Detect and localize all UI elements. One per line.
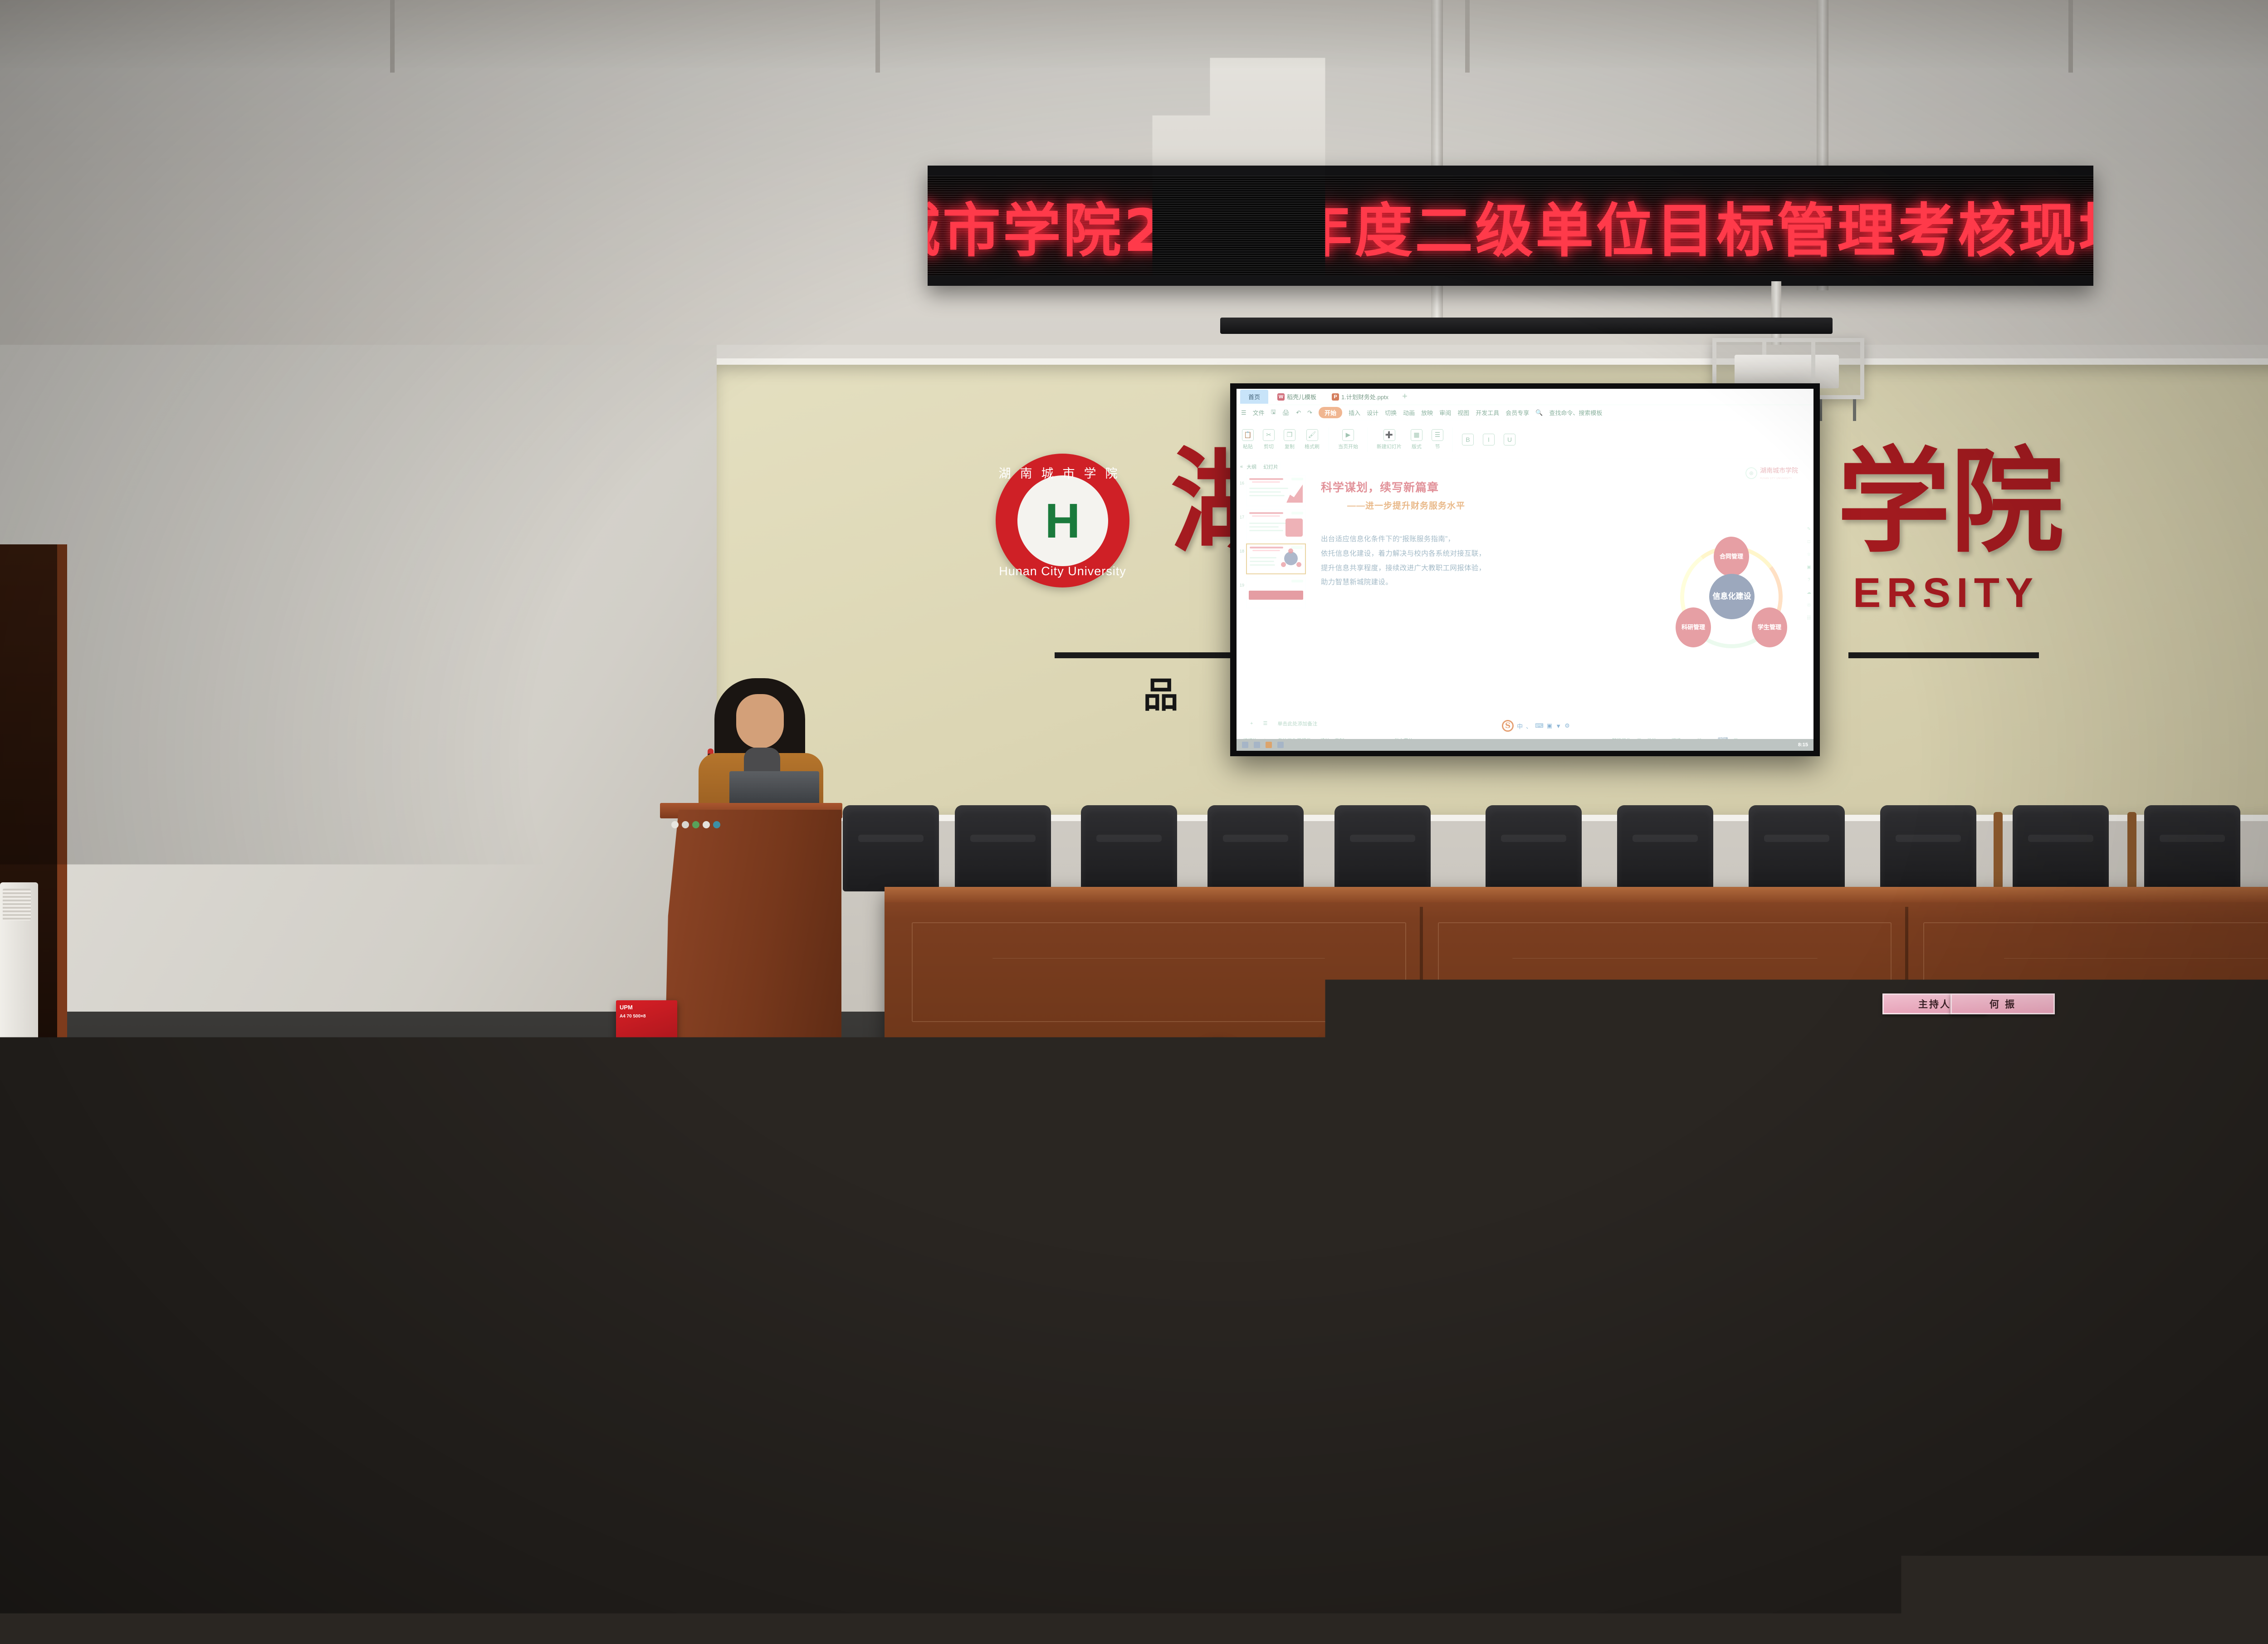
attendee-head [272, 1198, 338, 1270]
table-seam [1420, 907, 1423, 1061]
stage-chair [1749, 805, 1845, 891]
attendee-head [1460, 1216, 1528, 1291]
os-taskbar[interactable]: 8:15 [1237, 739, 1813, 751]
audience-seat[interactable] [2096, 1202, 2215, 1294]
projector-cage-leg [1853, 399, 1856, 421]
stacked-bowls [236, 1068, 295, 1092]
thumbnail-row[interactable]: 18 [1239, 543, 1306, 574]
taskbar-start-icon[interactable] [1242, 742, 1248, 748]
podium-button-light[interactable] [703, 821, 710, 828]
ribbon-layout-label: 版式 [1412, 443, 1422, 450]
thumb-venn-node [1281, 562, 1286, 567]
stage-chair [1334, 805, 1431, 891]
logo-cn-ring: 湖南城市学院 [996, 464, 1129, 481]
thumb-logo-icon [1291, 546, 1303, 549]
menu-tab-view[interactable]: 视图 [1457, 408, 1469, 417]
slide-thumbnail[interactable] [1246, 509, 1306, 540]
new-tab-icon[interactable]: + [1398, 391, 1408, 402]
handout-paper [422, 1256, 476, 1282]
bold-icon: B [1462, 434, 1474, 445]
projector-mount-arm [1771, 281, 1781, 345]
attendee-head [500, 1101, 559, 1167]
stage-chair [1880, 805, 1976, 891]
underline-icon: U [1504, 434, 1515, 445]
thumbnail-number: 17 [1239, 509, 1244, 519]
thumb-steps-art [1286, 519, 1303, 537]
thumbnail-row[interactable]: 19 [1239, 577, 1306, 608]
ribbon-bold[interactable]: B [1462, 434, 1474, 445]
thumb-section-band [1249, 591, 1303, 600]
table-panel-ornament [1467, 958, 1862, 993]
ceiling-seam [875, 0, 880, 73]
attendee-head [1618, 1221, 1685, 1295]
sogou-ime-bar[interactable]: S 中 、 ⌨ ▣ ▼ ⚙ [1502, 720, 1570, 732]
stage-chair [955, 805, 1051, 891]
audience-seat[interactable] [2204, 1321, 2268, 1428]
ribbon-paste[interactable]: 📋 粘贴 [1242, 429, 1254, 450]
stage-chair [1207, 805, 1304, 891]
wall-rule-right [1848, 652, 2039, 658]
aisle-step [667, 1372, 1166, 1406]
template-badge-icon: W [1277, 393, 1285, 401]
menu-tab-design[interactable]: 设计 [1367, 408, 1378, 417]
play-icon: ▶ [1342, 429, 1354, 441]
audience-seat[interactable] [1043, 1465, 1207, 1597]
collapse-icon[interactable]: « [1240, 464, 1243, 470]
seat-number: 3 [192, 1233, 208, 1260]
ceiling-seam [2068, 0, 2073, 73]
print-icon[interactable]: 🖨 [1282, 409, 1290, 416]
menu-tab-review[interactable]: 审阅 [1439, 408, 1451, 417]
attendee-head [1194, 1039, 1242, 1094]
redo-icon[interactable]: ↷ [1307, 409, 1312, 416]
slide-logo: ◎ 湖南城市学院 HUNAN CITY UNIVERSITY [1745, 466, 1798, 480]
thumb-line [1249, 488, 1288, 489]
ribbon-divider [1452, 427, 1453, 452]
star-icon[interactable]: ☆ [1807, 552, 1811, 557]
speaker-face [736, 694, 784, 749]
pptx-badge-icon: P [1332, 393, 1339, 401]
table-panel-ornament [944, 958, 1374, 993]
ribbon-new-slide-label: 新建幻灯片 [1377, 443, 1402, 450]
ribbon-play-label: 当页开始 [1338, 443, 1358, 450]
stage-chair-divider [1994, 812, 2003, 889]
notes-placeholder[interactable]: 单击此处添加备注 [1277, 720, 1317, 727]
table-edge [885, 887, 2268, 902]
help-icon[interactable]: ? [1808, 577, 1810, 582]
aisle-step [708, 1207, 1129, 1237]
new-slide-icon: ➕ [1383, 429, 1395, 441]
ribbon-italic[interactable]: I [1483, 434, 1495, 445]
wps-office-window: 首页 W 稻壳儿模板 P 1.计划财务处.pptx + ☰ 文件 🖫 🖨 ↶ ↷ [1237, 389, 1813, 751]
diagram-node-contract: 合同管理 [1714, 537, 1749, 577]
ribbon-copy[interactable]: ❐ 复制 [1284, 429, 1295, 450]
podium-laptop [729, 771, 819, 803]
pen-icon[interactable]: ✎ [1807, 527, 1811, 532]
thumb-venn-node [1288, 548, 1293, 553]
wps-tab-template-label: 稻壳儿模板 [1287, 392, 1316, 401]
yellow-carton [209, 1043, 265, 1068]
slide-thumbnail-panel[interactable]: « 大纲 幻灯片 16 [1237, 459, 1309, 713]
menu-tab-member[interactable]: 会员专享 [1505, 408, 1529, 417]
wall-sign-en: ERSITY [1853, 569, 2039, 617]
podium-button-blue[interactable] [713, 821, 720, 828]
format-painter-icon: 🖌 [1306, 429, 1318, 441]
thumb-title-bar [1249, 512, 1283, 514]
ribbon-format-painter-label: 格式刷 [1305, 443, 1320, 450]
notes-list-icon: ☰ [1263, 720, 1267, 726]
table-front-panel [912, 922, 1406, 1022]
ceiling-seam [1465, 0, 1470, 73]
ime-keyboard-icon[interactable]: ⌨ [1535, 722, 1544, 729]
seat-number: 4 [435, 1231, 450, 1257]
taskbar-clock: 8:15 [1798, 742, 1808, 748]
audience-seat[interactable]: 10 [1819, 1195, 1941, 1289]
ime-mode-label[interactable]: 中 [1517, 722, 1523, 730]
slide-body-line-2: 依托信息化建设，着力解决与校内各系统对接互联， [1321, 547, 1592, 561]
thumb-logo-icon [1291, 512, 1303, 514]
seat-number: 4 [220, 1342, 238, 1373]
wps-menu-bar: ☰ 文件 🖫 🖨 ↶ ↷ 开始 插入 设计 切换 动画 放映 审阅 视图 开发工… [1237, 405, 1813, 421]
audience-seat[interactable] [483, 1424, 635, 1560]
attendee-head [1284, 1354, 1366, 1445]
taskbar-browser-icon[interactable] [1254, 742, 1260, 748]
dispenser-vent [3, 889, 31, 920]
water-bottle [1812, 1034, 1828, 1066]
ime-skin-icon[interactable]: ▼ [1555, 723, 1561, 729]
tab-outline[interactable]: 大纲 [1246, 463, 1256, 470]
paste-icon: 📋 [1242, 429, 1254, 441]
slide-logo-ring-icon: ◎ [1745, 467, 1757, 479]
slide-right-toolbar[interactable]: ✎ □ ☆ ▣ ? ☁ ☉ ☷ [1804, 527, 1813, 621]
attendee-head [299, 1419, 404, 1533]
table-seam [1905, 907, 1908, 1061]
thumb-title-bar [1249, 478, 1283, 480]
grid-icon[interactable]: ☷ [1807, 616, 1811, 621]
attendee-shoulders [1465, 1443, 1651, 1644]
aisle-step [689, 1286, 1148, 1318]
attendee-head [1302, 1115, 1361, 1181]
slide-logo-text: 湖南城市学院 [1760, 467, 1798, 475]
thumb-sub-bar [1252, 515, 1280, 517]
logo-inner-disc: H [1017, 475, 1108, 566]
stage-chair [1617, 805, 1713, 891]
wps-main-area: « 大纲 幻灯片 16 [1237, 459, 1813, 713]
outline-slide-tabs: « 大纲 幻灯片 [1239, 460, 1306, 472]
attendee-head [1515, 1365, 1606, 1464]
thumbnail-row[interactable]: 16 [1239, 475, 1306, 506]
ribbon-new-slide[interactable]: ➕ 新建幻灯片 [1377, 429, 1402, 450]
attendee-shoulders [0, 1506, 195, 1644]
ribbon-section-label: 节 [1435, 443, 1440, 450]
attendee-head [435, 1048, 485, 1102]
attendee-head [1338, 1452, 1433, 1555]
attendee-shoulders [1755, 1456, 1946, 1644]
face-mask [2080, 1043, 2098, 1057]
layers-icon[interactable]: ▣ [1807, 565, 1811, 570]
ribbon-cut-label: 剪切 [1264, 443, 1274, 450]
university-logo: 湖南城市学院 H Hunan City University [996, 454, 1129, 587]
section-icon: ☰ [1432, 429, 1443, 441]
audience-seat[interactable] [2266, 1111, 2268, 1189]
thumbnail-number: 18 [1239, 543, 1244, 553]
audience-seat[interactable] [1404, 1098, 1510, 1179]
attendee-head [1322, 1029, 1372, 1086]
attendee-shoulders [64, 1080, 186, 1134]
italic-icon: I [1483, 434, 1495, 445]
thumbnail-row[interactable]: 17 [1239, 509, 1306, 540]
paper-carton: UPM A4 70 500×8 [616, 1000, 677, 1049]
hamburger-icon[interactable]: ☰ [1241, 409, 1246, 416]
menu-tab-transition[interactable]: 切换 [1385, 408, 1397, 417]
search-input[interactable]: 查找命令、搜索模板 [1549, 408, 1602, 417]
ime-toolbox-icon[interactable]: ▣ [1547, 722, 1552, 729]
stage-presidium-table [885, 887, 2268, 1064]
table-panel-ornament [1955, 958, 2268, 993]
slide-body-line-4: 助力智慧新城院建设。 [1321, 575, 1592, 590]
nameplate-speaker: 何 振 [1950, 993, 2055, 1014]
slide-body-text: 出台适应信息化条件下的“报账服务指南”， 依托信息化建设，着力解决与校内各系统对… [1321, 532, 1592, 590]
handout-paper [1198, 1420, 1279, 1452]
podium [665, 810, 841, 1075]
thumb-line [1250, 557, 1276, 558]
podium-button-white[interactable] [671, 821, 679, 828]
ribbon-divider [1329, 427, 1329, 452]
audience-seat[interactable] [1982, 1463, 2154, 1601]
thumb-line [1249, 526, 1279, 528]
attendee-head [1148, 1220, 1215, 1295]
thumb-line [1249, 491, 1281, 493]
ribbon-layout[interactable]: ▦ 版式 [1411, 429, 1422, 450]
audience-seat[interactable] [2173, 1468, 2268, 1605]
ime-punct-icon[interactable]: 、 [1526, 722, 1532, 730]
menu-tab-slideshow[interactable]: 放映 [1421, 408, 1433, 417]
taskbar-wps-icon[interactable] [1266, 742, 1272, 748]
stage-chair [1081, 805, 1177, 891]
stage-chair [1486, 805, 1582, 891]
attendee-head [1641, 1012, 1695, 1072]
wps-tab-presentation-label: 1.计划财务处.pptx [1341, 392, 1388, 401]
attendee-head [1805, 1377, 1898, 1478]
thumb-venn-node [1296, 562, 1301, 567]
ribbon-play-from-here[interactable]: ▶ 当页开始 [1338, 429, 1358, 450]
thumb-sub-bar [1252, 481, 1280, 483]
thumb-line [1249, 523, 1286, 524]
slide-thumbnail[interactable] [1246, 475, 1306, 506]
wall-pin-character: 品 [1143, 667, 1178, 718]
stage-chair [2013, 805, 2109, 891]
audience-seat[interactable]: 9 [1678, 1194, 1801, 1288]
thumb-sub-bar [1252, 550, 1280, 551]
slide-title: 科学谋划，续写新篇章 [1321, 479, 1804, 495]
paper-carton-brand: UPM [620, 1004, 633, 1011]
diagram-node-student: 学生管理 [1752, 607, 1787, 647]
slide-thumbnail-active[interactable] [1246, 543, 1306, 574]
attendee-head [93, 1316, 178, 1408]
menu-tab-animation[interactable]: 动画 [1403, 408, 1415, 417]
ceiling-seam [390, 0, 395, 73]
slide-thumbnail[interactable] [1246, 577, 1306, 608]
audience-seat[interactable] [2146, 1107, 2252, 1186]
audience-seat[interactable] [2046, 1316, 2186, 1424]
menu-tab-start[interactable]: 开始 [1319, 407, 1342, 418]
podium-button-grey[interactable] [682, 821, 689, 828]
taskbar-folder-icon[interactable] [1277, 742, 1284, 748]
audience-seat[interactable] [2234, 1207, 2268, 1297]
thumb-line [1249, 495, 1285, 496]
audience-seat[interactable]: 3 [116, 1197, 223, 1285]
wps-ribbon: 📋 粘贴 ✂ 剪切 ❐ 复制 🖌 格式刷 ▶ 当页开始 [1237, 421, 1813, 459]
ribbon-paste-label: 粘贴 [1243, 443, 1253, 450]
audience-seat[interactable] [322, 1112, 419, 1189]
ribbon-format-painter[interactable]: 🖌 格式刷 [1305, 429, 1320, 450]
thumb-chart-art [1286, 484, 1303, 503]
menu-file[interactable]: 文件 [1253, 408, 1265, 417]
seat-number: 9 [1768, 1233, 1784, 1260]
slide-canvas[interactable]: ◎ 湖南城市学院 HUNAN CITY UNIVERSITY 科学谋划，续写新篇… [1309, 459, 1813, 713]
audience-seat[interactable] [2023, 1103, 2130, 1183]
audience-seat[interactable] [1957, 1199, 2078, 1291]
wall-sign-cn-right: 学院 [1837, 445, 2064, 558]
undo-icon[interactable]: ↶ [1296, 409, 1301, 416]
slide-body-line-3: 提升信息共享程度，接续改进广大教职工网报体验， [1321, 561, 1592, 576]
ime-settings-icon[interactable]: ⚙ [1564, 722, 1570, 729]
layout-icon: ▦ [1411, 429, 1422, 441]
audience-seat[interactable] [1901, 1100, 2009, 1181]
wps-tab-bar: 首页 W 稻壳儿模板 P 1.计划财务处.pptx + [1237, 389, 1813, 405]
led-banner-text: 湖南城市学院2022年度二级单位目标管理考核现场述职 [928, 184, 2093, 268]
ribbon-divider [1367, 427, 1368, 452]
thumb-logo-icon [1291, 580, 1303, 582]
stage-chair [2144, 805, 2240, 891]
wps-tab-template[interactable]: W 稻壳儿模板 [1271, 390, 1323, 403]
wps-tab-presentation[interactable]: P 1.计划财务处.pptx [1325, 390, 1395, 403]
add-note-icon[interactable]: + [1250, 721, 1253, 726]
ribbon-cut[interactable]: ✂ 剪切 [1263, 429, 1275, 450]
cut-icon: ✂ [1263, 429, 1275, 441]
logo-en-ring: Hunan City University [996, 564, 1129, 578]
ribbon-underline[interactable]: U [1504, 434, 1515, 445]
thumb-title-bar [1250, 547, 1283, 548]
search-icon[interactable]: 🔍 [1535, 409, 1543, 416]
wall-left-section [0, 345, 717, 1052]
seat-number: 4 [494, 1340, 512, 1370]
slide-subtitle: ——进一步提升财务服务水平 [1347, 499, 1804, 511]
thumbnail-number: 16 [1239, 475, 1244, 485]
podium-control-buttons[interactable] [671, 821, 720, 828]
stage-chair [843, 805, 939, 891]
logo-monogram: H [1045, 496, 1080, 545]
podium-button-green[interactable] [692, 821, 699, 828]
ceiling-band [0, 0, 2268, 68]
attendee-head [569, 1252, 640, 1330]
attendee-head [36, 1413, 138, 1526]
audience-seat[interactable]: 1 [1776, 1098, 1885, 1179]
shield-icon[interactable]: ☉ [1807, 603, 1811, 608]
auditorium-scene: 湖南城市学院2022年度二级单位目标管理考核现场述职 湖南城市学院 H Huna… [0, 0, 2268, 1644]
water-dispenser [0, 882, 38, 1077]
tab-slides[interactable]: 幻灯片 [1260, 462, 1281, 471]
desk-paper [812, 1089, 875, 1101]
audience-seat[interactable] [0, 1200, 104, 1286]
slide-logo-subtext: HUNAN CITY UNIVERSITY [1760, 477, 1792, 480]
thumb-line [1250, 564, 1275, 566]
eraser-icon[interactable]: □ [1808, 539, 1810, 544]
diagram-node-research: 科研管理 [1676, 607, 1711, 647]
slide-body-line-1: 出台适应信息化条件下的“报账服务指南”， [1321, 532, 1592, 547]
cloud-icon[interactable]: ☁ [1807, 590, 1811, 595]
copy-icon: ❐ [1284, 429, 1295, 441]
seat-number: 1 [1856, 1132, 1870, 1155]
stage-chair-divider [2127, 812, 2136, 889]
thumb-venn-art [1284, 552, 1298, 565]
screen-roller-housing [1220, 318, 1833, 334]
slide-diagram: 合同管理 科研管理 学生管理 信息化建设 [1675, 540, 1788, 654]
ribbon-copy-label: 复制 [1285, 443, 1295, 450]
diagram-center-node: 信息化建设 [1709, 574, 1755, 619]
audience-seat[interactable] [212, 1114, 308, 1189]
menu-tab-developer[interactable]: 开发工具 [1476, 408, 1499, 417]
save-icon[interactable]: 🖫 [1271, 408, 1276, 418]
projection-screen: 首页 W 稻壳儿模板 P 1.计划财务处.pptx + ☰ 文件 🖫 🖨 ↶ ↷ [1230, 383, 1820, 756]
led-banner: 湖南城市学院2022年度二级单位目标管理考核现场述职 [928, 166, 2093, 286]
thumb-line [1250, 561, 1274, 562]
thumbnail-number: 19 [1239, 577, 1244, 587]
paper-carton-spec: A4 70 500×8 [620, 1014, 646, 1019]
ribbon-section[interactable]: ☰ 节 [1432, 429, 1443, 450]
thumb-line [1249, 530, 1283, 531]
menu-tab-insert[interactable]: 插入 [1349, 408, 1360, 417]
table-front-panel [1438, 922, 1892, 1022]
audience-seat[interactable] [1887, 1312, 2028, 1421]
wps-home-tab[interactable]: 首页 [1240, 390, 1268, 404]
seat-number: 10 [1892, 1235, 1924, 1261]
sogou-logo-icon: S [1502, 720, 1514, 732]
attendee-head [1584, 1117, 1643, 1183]
thumb-logo-icon [1291, 478, 1303, 480]
seat-number: 1 [1731, 1131, 1745, 1155]
